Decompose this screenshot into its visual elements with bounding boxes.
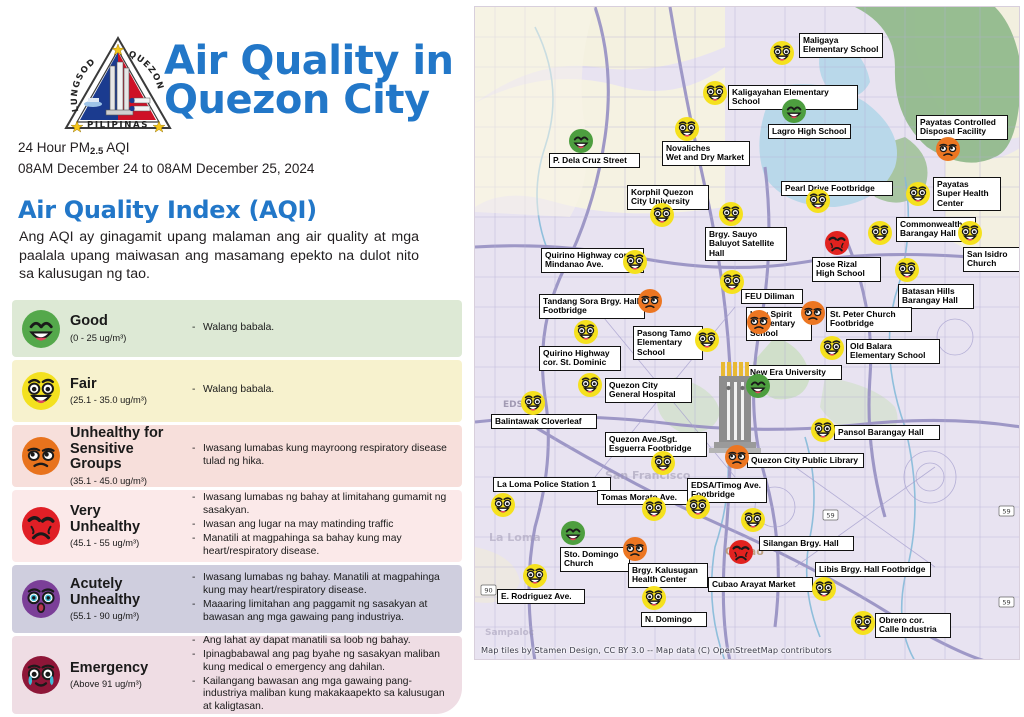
map-attribution: Map tiles by Stamen Design, CC BY 3.0 --… [481, 645, 832, 655]
legend-range-good: (0 - 25 ug/m³) [70, 333, 188, 343]
subtitle-pm-tail: AQI [103, 140, 129, 155]
svg-text:La Loma: La Loma [489, 531, 541, 544]
map-marker-16[interactable] [719, 269, 745, 295]
map-marker-24[interactable] [577, 372, 603, 398]
map-marker-26[interactable] [810, 417, 836, 443]
header: LUNGSOD QUEZON PILIPINAS Air Quality in … [16, 18, 466, 136]
legend-row-acutely-unhealthy: AcutelyUnhealthy (55.1 - 90 ug/m³) Iwasa… [12, 565, 462, 633]
legend-name-good: Good (0 - 25 ug/m³) [70, 314, 192, 343]
legend-name-acutely-unhealthy: AcutelyUnhealthy (55.1 - 90 ug/m³) [70, 577, 192, 621]
svg-text:San Francisco: San Francisco [605, 469, 691, 482]
map-marker-20[interactable] [694, 327, 720, 353]
map-label-38[interactable]: N. Domingo [641, 612, 707, 627]
page-title: Air Quality in Quezon City [164, 42, 480, 120]
map-marker-2[interactable] [702, 80, 728, 106]
legend-row-emergency: Emergency (Above 91 ug/m³) Ang lahat ay … [12, 636, 462, 714]
aqi-section-heading: Air Quality Index (AQI) [18, 196, 317, 224]
map-marker-17[interactable] [637, 288, 663, 314]
map-marker-18[interactable] [746, 309, 772, 335]
map-label-21[interactable]: Old Balara Elementary School [846, 339, 940, 364]
map-marker-34[interactable] [622, 536, 648, 562]
map-marker-27[interactable] [650, 450, 676, 476]
map-label-35[interactable]: Cubao Arayat Market [708, 577, 813, 592]
legend-advisory-acutely-unhealthy: Iwasang lumabas ng bahay. Manatili at ma… [192, 572, 462, 626]
map-marker-19[interactable] [800, 300, 826, 326]
legend-advisory-good: Walang babala. [192, 322, 462, 336]
map-label-14[interactable]: Jose Rizal High School [812, 257, 881, 282]
advisory-item: Manatili at magpahinga sa bahay kung may… [192, 533, 452, 559]
map-label-33[interactable]: Sto. Domingo Church [560, 547, 630, 572]
legend-row-good: Good (0 - 25 ug/m³) Walang babala. [12, 300, 462, 357]
legend-face-emergency-icon [12, 655, 70, 695]
map-label-12[interactable]: San Isidro Church [963, 247, 1019, 272]
map-marker-13[interactable] [622, 249, 648, 275]
map-label-9[interactable]: Payatas Super Health Center [933, 177, 1001, 211]
map-label-25[interactable]: Balintawak Cloverleaf [491, 414, 597, 429]
map-marker-15[interactable] [894, 257, 920, 283]
legend-name-emergency: Emergency (Above 91 ug/m³) [70, 661, 192, 690]
advisory-item: Ang lahat ay dapat manatili sa loob ng b… [192, 635, 452, 648]
svg-text:59: 59 [826, 512, 834, 520]
legend-face-acutely-unhealthy-icon [12, 579, 70, 619]
left-info-panel: LUNGSOD QUEZON PILIPINAS Air Quality in … [0, 0, 470, 675]
advisory-item: Walang babala. [192, 322, 452, 335]
svg-text:Sampaloc: Sampaloc [485, 628, 534, 638]
legend-row-very-unhealthy: VeryUnhealthy (45.1 - 55 ug/m³) Iwasang … [12, 490, 462, 562]
legend-row-unhealthy-sensitive: Unhealthy forSensitive Groups (35.1 - 45… [12, 425, 462, 487]
map-label-20[interactable]: Pasong Tamo Elementary School [633, 326, 703, 360]
legend-advisory-very-unhealthy: Iwasang lumabas ng bahay at limitahang g… [192, 492, 462, 560]
map-label-28[interactable]: Quezon City Public Library [747, 453, 864, 468]
map-marker-10[interactable] [718, 201, 744, 227]
legend-name-unhealthy-sensitive: Unhealthy forSensitive Groups (35.1 - 45… [70, 426, 192, 486]
map-label-6[interactable]: Payatas Controlled Disposal Facility [916, 115, 1008, 140]
map-marker-28[interactable] [724, 444, 750, 470]
subtitle-period: 08AM December 24 to 08AM December 25, 20… [18, 161, 314, 176]
air-quality-map-panel[interactable]: EDSA San Francisco La Loma Sampaloc Cuba… [474, 6, 1020, 660]
legend-face-fair-icon [12, 371, 70, 411]
title-line-1: Air Quality in [164, 42, 480, 81]
legend-range-very-unhealthy: (45.1 - 55 ug/m³) [70, 538, 188, 548]
legend-range-unhealthy-sensitive: (35.1 - 45.0 ug/m³) [70, 476, 188, 486]
map-marker-3[interactable] [781, 98, 807, 124]
map-label-5[interactable]: Novaliches Wet and Dry Market [662, 141, 750, 166]
legend-range-acutely-unhealthy: (55.1 - 90 ug/m³) [70, 611, 188, 621]
map-label-24[interactable]: Quezon City General Hospital [605, 378, 692, 403]
map-label-17[interactable]: Tandang Sora Brgy. Hall Footbridge [539, 294, 645, 319]
legend-row-fair: Fair (25.1 - 35.0 ug/m³) Walang babala. [12, 360, 462, 422]
quezon-city-seal-logo: LUNGSOD QUEZON PILIPINAS [60, 32, 176, 136]
map-marker-11[interactable] [867, 220, 893, 246]
map-marker-9[interactable] [905, 181, 931, 207]
advisory-item: Iwasang lumabas kung mayroong respirator… [192, 443, 452, 469]
advisory-item: Maaaring limitahan ang paggamit ng sasak… [192, 599, 452, 625]
subtitle-pollutant: 24 Hour PM2.5 AQI [18, 140, 130, 157]
map-marker-38[interactable] [641, 585, 667, 611]
svg-text:PILIPINAS: PILIPINAS [87, 121, 149, 131]
map-marker-12[interactable] [957, 220, 983, 246]
svg-text:59: 59 [1002, 508, 1010, 516]
legend-name-very-unhealthy: VeryUnhealthy (45.1 - 55 ug/m³) [70, 504, 192, 548]
advisory-item: Iwasan ang lugar na may matinding traffi… [192, 519, 452, 532]
legend-face-very-unhealthy-icon [12, 506, 70, 546]
legend-face-good-icon [12, 309, 70, 349]
map-label-37[interactable]: E. Rodriguez Ave. [497, 589, 585, 604]
legend-advisory-unhealthy-sensitive: Iwasang lumabas kung mayroong respirator… [192, 443, 462, 470]
map-marker-25[interactable] [520, 390, 546, 416]
map-marker-6[interactable] [935, 136, 961, 162]
map-marker-30[interactable] [641, 496, 667, 522]
map-marker-36[interactable] [811, 576, 837, 602]
subtitle-pm-subscript: 2.5 [90, 146, 103, 157]
advisory-item: Iwasang lumabas ng bahay at limitahang g… [192, 492, 452, 518]
map-marker-1[interactable] [769, 40, 795, 66]
map-marker-23[interactable] [745, 373, 771, 399]
map-label-10[interactable]: Brgy. Sauyo Baluyot Satellite Hall [705, 227, 787, 261]
map-label-39[interactable]: Obrero cor. Calle Industria [875, 613, 951, 638]
advisory-item: Ipinagbabawal ang pag byahe ng sasakyan … [192, 649, 452, 675]
map-marker-32[interactable] [740, 507, 766, 533]
advisory-item: Kailangang bawasan ang mga gawaing pang-… [192, 676, 452, 715]
map-marker-21[interactable] [819, 335, 845, 361]
map-marker-29[interactable] [490, 492, 516, 518]
map-marker-31[interactable] [685, 494, 711, 520]
map-label-1[interactable]: Maligaya Elementary School [799, 33, 883, 58]
subtitle-pm-label: 24 Hour PM [18, 140, 90, 155]
map-canvas[interactable]: EDSA San Francisco La Loma Sampaloc Cuba… [475, 7, 1019, 659]
map-marker-7[interactable] [649, 202, 675, 228]
map-label-22[interactable]: Quirino Highway cor. St. Dominic [539, 346, 621, 371]
legend-advisory-fair: Walang babala. [192, 384, 462, 398]
map-label-34[interactable]: Brgy. Kalusugan Health Center [628, 563, 708, 588]
legend-name-fair: Fair (25.1 - 35.0 ug/m³) [70, 377, 192, 406]
svg-text:59: 59 [1002, 599, 1010, 607]
legend-range-emergency: (Above 91 ug/m³) [70, 679, 188, 689]
map-label-19[interactable]: St. Peter Church Footbridge [826, 307, 912, 332]
map-marker-33[interactable] [560, 520, 586, 546]
map-label-4[interactable]: P. Dela Cruz Street [549, 153, 640, 168]
legend-advisory-emergency: Ang lahat ay dapat manatili sa loob ng b… [192, 635, 462, 716]
legend-face-unhealthy-sensitive-icon [12, 436, 70, 476]
map-label-26[interactable]: Pansol Barangay Hall [834, 425, 940, 440]
svg-text:90: 90 [484, 587, 492, 595]
map-label-16[interactable]: FEU Diliman [741, 289, 803, 304]
map-marker-37[interactable] [522, 563, 548, 589]
map-marker-4[interactable] [568, 128, 594, 154]
map-marker-35[interactable] [728, 539, 754, 565]
advisory-item: Iwasang lumabas ng bahay. Manatili at ma… [192, 572, 452, 598]
map-label-29[interactable]: La Loma Police Station 1 [493, 477, 611, 492]
map-label-32[interactable]: Silangan Brgy. Hall [759, 536, 854, 551]
aqi-legend-table: Good (0 - 25 ug/m³) Walang babala. Fair … [12, 300, 462, 717]
map-marker-14[interactable] [824, 230, 850, 256]
title-line-2: Quezon City [164, 81, 480, 120]
map-marker-8[interactable] [805, 188, 831, 214]
map-label-8[interactable]: Pearl Drive Footbridge [781, 181, 893, 196]
map-label-15[interactable]: Batasan Hills Barangay Hall [898, 284, 974, 309]
aqi-section-description: Ang AQI ay ginagamit upang malaman ang a… [19, 228, 419, 284]
map-label-3[interactable]: Lagro High School [768, 124, 851, 139]
advisory-item: Walang babala. [192, 384, 452, 397]
map-marker-39[interactable] [850, 610, 876, 636]
legend-range-fair: (25.1 - 35.0 ug/m³) [70, 395, 188, 405]
map-marker-22[interactable] [573, 319, 599, 345]
map-marker-5[interactable] [674, 116, 700, 142]
